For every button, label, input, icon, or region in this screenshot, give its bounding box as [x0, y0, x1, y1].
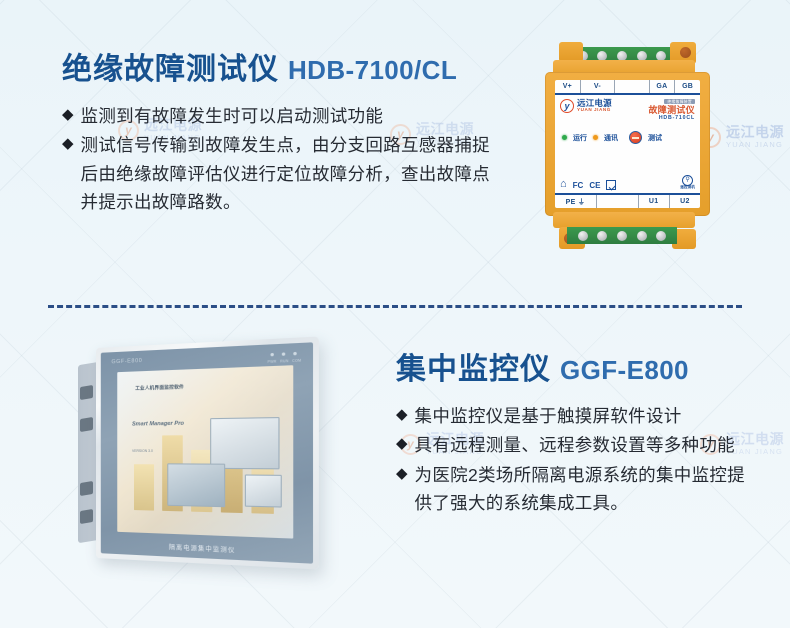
section-title-cn: 绝缘故障测试仪	[62, 44, 279, 88]
panel-led-label: PWR	[268, 359, 277, 364]
terminal-label: U2	[670, 195, 700, 208]
bullet-diamond-icon: ◆	[396, 461, 408, 487]
brand-watermark: y 远江电源 YUAN JIANG	[700, 125, 784, 149]
logo-badge-icon: y	[560, 99, 574, 113]
product-image-fault-tester: V+ V- GA GB y 远江电源 YUAN JIANG 绝缘	[545, 38, 710, 250]
terminal-screw	[578, 231, 588, 241]
certification-row: ⌂ FC CE ⚲ 遥控测机	[560, 175, 695, 190]
panel-port-icon	[80, 509, 93, 524]
screen-thumbnail	[167, 463, 225, 507]
device-tag-pill: 绝缘故障装置	[664, 99, 695, 104]
product-page: y 远江电源 YUAN JIANG y 远江电源 YUAN JIANG y 远江…	[0, 0, 790, 628]
bullet-diamond-icon: ◆	[62, 131, 74, 157]
watermark-name-en: YUAN JIANG	[726, 141, 784, 149]
remote-test-caption: 遥控测机	[680, 186, 695, 190]
list-item-text: 测试信号传输到故障发生点，由分支回路互感器捕捉后由绝缘故障评估仪进行定位故障分析…	[81, 131, 492, 216]
list-item: ◆ 具有远程测量、远程参数设置等多种功能	[396, 431, 756, 459]
terminal-label-row-top: V+ V- GA GB	[555, 80, 700, 95]
device-faceplate: V+ V- GA GB y 远江电源 YUAN JIANG 绝缘	[555, 80, 700, 208]
list-item: ◆ 为医院2类场所隔离电源系统的集中监控提供了强大的系统集成工具。	[396, 461, 756, 518]
list-item: ◆ 测试信号传输到故障发生点，由分支回路互感器捕捉后由绝缘故障评估仪进行定位故障…	[62, 131, 492, 216]
section-title: 绝缘故障测试仪 HDB-7100/CL	[62, 44, 492, 88]
terminal-label: V-	[581, 80, 615, 93]
screen-thumbnail	[245, 474, 282, 507]
screen-note: VERSION 3.0	[132, 449, 153, 453]
list-item-text: 集中监控仪是基于触摸屏软件设计	[415, 402, 682, 430]
brand-and-model: y 远江电源 YUAN JIANG 绝缘故障装置 故障测试仪 HDB-710CL	[560, 99, 695, 121]
terminal-screw	[617, 231, 627, 241]
section-title-cn: 集中监控仪	[396, 344, 551, 388]
check-mark-icon	[606, 180, 616, 190]
panel-model-label: GGF-E800	[111, 358, 142, 365]
comm-led-icon	[593, 135, 598, 140]
section-divider	[48, 305, 742, 308]
panel-outer-frame: GGF-E800 PWR RUN COM	[96, 336, 319, 569]
bullet-diamond-icon: ◆	[62, 102, 74, 128]
panel-port-icon	[80, 417, 93, 432]
list-item: ◆ 集中监控仪是基于触摸屏软件设计	[396, 402, 756, 430]
panel-screen[interactable]: 工业人机界面监控软件 Smart Manager Pro VERSION 3.0	[117, 365, 293, 538]
panel-led-label: RUN	[280, 359, 289, 364]
device-logo: y 远江电源 YUAN JIANG	[560, 99, 612, 113]
feature-list: ◆ 集中监控仪是基于触摸屏软件设计 ◆ 具有远程测量、远程参数设置等多种功能 ◆…	[396, 402, 756, 517]
terminal-screw	[637, 231, 647, 241]
mounting-ear	[559, 42, 583, 62]
terminal-label: GB	[675, 80, 700, 93]
panel-led-icon	[282, 352, 285, 355]
terminal-screw	[617, 51, 627, 61]
panel-caption: 隔离电源集中监测仪	[101, 539, 313, 558]
terminal-screw	[597, 231, 607, 241]
ce-mark-icon: CE	[589, 182, 600, 190]
device-model-number: HDB-710CL	[659, 116, 695, 122]
terminal-screw	[656, 51, 666, 61]
device-brand-en: YUAN JIANG	[577, 108, 612, 113]
terminal-screw	[637, 51, 647, 61]
housing-band	[553, 212, 695, 228]
terminal-label-row-bottom: PE ⏚ U1 U2	[555, 193, 700, 208]
run-led-icon	[562, 135, 567, 140]
panel-port-icon	[80, 481, 93, 496]
list-item-text: 监测到有故障发生时可以启动测试功能	[81, 102, 384, 130]
list-item-text: 具有远程测量、远程参数设置等多种功能	[415, 431, 735, 459]
terminal-label	[597, 195, 639, 208]
faceplate-content: y 远江电源 YUAN JIANG 绝缘故障装置 故障测试仪 HDB-710CL	[555, 95, 700, 193]
terminal-label: U1	[639, 195, 670, 208]
panel-port-icon	[80, 385, 93, 400]
house-mark-icon: ⌂	[560, 179, 567, 190]
test-button[interactable]	[629, 131, 642, 144]
section-central-monitor: 集中监控仪 GGF-E800 ◆ 集中监控仪是基于触摸屏软件设计 ◆ 具有远程测…	[396, 344, 756, 518]
screen-title: 工业人机界面监控软件	[135, 384, 184, 392]
watermark-name-cn: 远江电源	[726, 125, 784, 141]
test-button-label: 测试	[648, 133, 662, 143]
indicator-row: 运行 通讯 测试	[560, 131, 695, 144]
section-insulation-fault-tester: 绝缘故障测试仪 HDB-7100/CL ◆ 监测到有故障发生时可以启动测试功能 …	[62, 44, 492, 217]
terminal-strip-bottom	[567, 227, 677, 244]
section-title: 集中监控仪 GGF-E800	[396, 344, 756, 388]
screen-thumbnail	[210, 417, 280, 469]
terminal-screw	[656, 231, 666, 241]
screen-subtitle: Smart Manager Pro	[132, 421, 184, 428]
panel-led-icon	[270, 353, 273, 356]
terminal-screw	[597, 51, 607, 61]
terminal-label: V+	[555, 80, 581, 93]
run-led-label: 运行	[573, 133, 587, 143]
product-image-central-monitor: GGF-E800 PWR RUN COM	[70, 340, 320, 575]
feature-list: ◆ 监测到有故障发生时可以启动测试功能 ◆ 测试信号传输到故障发生点，由分支回路…	[62, 102, 492, 216]
list-item: ◆ 监测到有故障发生时可以启动测试功能	[62, 102, 492, 130]
remote-test-mark: ⚲ 遥控测机	[680, 175, 695, 190]
section-title-model: HDB-7100/CL	[288, 55, 457, 86]
terminal-label	[615, 80, 649, 93]
bullet-diamond-icon: ◆	[396, 402, 408, 428]
terminal-label: PE ⏚	[555, 195, 597, 208]
panel-led-icon	[293, 352, 296, 355]
panel-bezel: GGF-E800 PWR RUN COM	[101, 342, 313, 563]
section-title-model: GGF-E800	[560, 355, 689, 386]
device-model-block: 绝缘故障装置 故障测试仪 HDB-710CL	[648, 99, 695, 121]
bullet-diamond-icon: ◆	[396, 431, 408, 457]
list-item-text: 为医院2类场所隔离电源系统的集中监控提供了强大的系统集成工具。	[415, 461, 756, 518]
panel-led-labels: PWR RUN COM	[268, 358, 302, 364]
fcc-mark-icon: FC	[573, 182, 584, 190]
terminal-label: GA	[650, 80, 676, 93]
comm-led-label: 通讯	[604, 133, 618, 143]
device-model-cn: 故障测试仪	[648, 105, 695, 115]
mounting-screw-icon	[680, 47, 691, 58]
panel-led-label: COM	[292, 358, 301, 363]
panel-led-group	[270, 352, 296, 356]
